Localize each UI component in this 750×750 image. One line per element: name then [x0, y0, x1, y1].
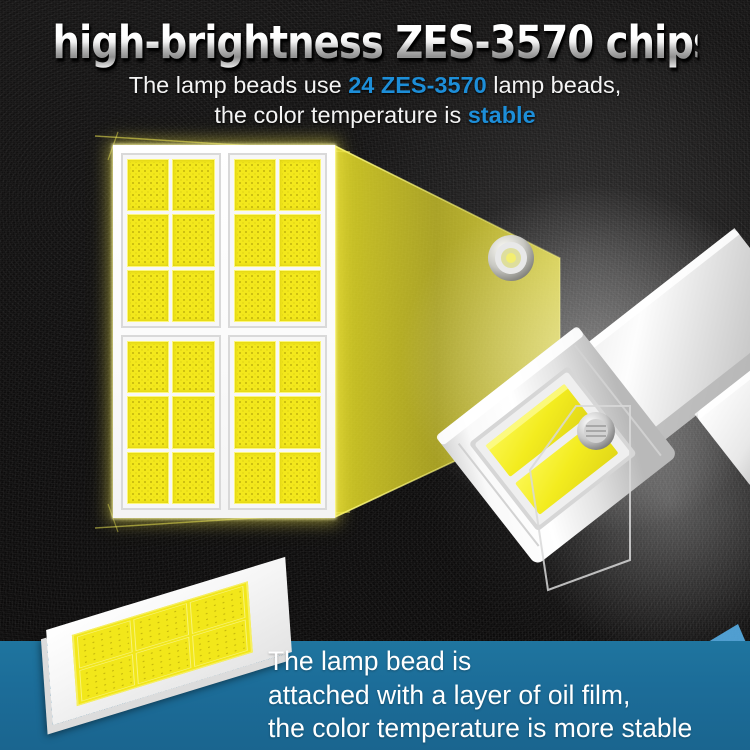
chip-quadrant — [228, 335, 328, 510]
lamp-bead-cell — [172, 270, 214, 322]
lamp-bead-cell — [279, 214, 321, 266]
subtitle-line-2-highlight: stable — [468, 102, 536, 128]
lamp-bead-cell — [172, 396, 214, 448]
subtitle-line-1-before: The lamp beads use — [129, 72, 348, 98]
lamp-bead-cell — [279, 341, 321, 393]
lamp-bead-cell — [234, 341, 276, 393]
lamp-bead-cell — [172, 159, 214, 211]
banner-caption: The lamp bead is attached with a layer o… — [268, 645, 750, 746]
lamp-bead-cell — [279, 452, 321, 504]
lamp-bead-cell — [127, 396, 169, 448]
lamp-bead-cell — [234, 159, 276, 211]
lamp-bead-cell — [279, 159, 321, 211]
banner-caption-line-2: attached with a layer of oil film, — [268, 679, 750, 713]
lamp-bead-cell — [234, 270, 276, 322]
subtitle-line-1: The lamp beads use 24 ZES-3570 lamp bead… — [0, 71, 750, 99]
lamp-bead-cell — [279, 270, 321, 322]
lamp-bead-cell — [127, 270, 169, 322]
banner-caption-line-3: the color temperature is more stable — [268, 712, 750, 746]
chip-quadrant — [121, 153, 221, 328]
page-title: high-brightness ZES-3570 chips — [53, 18, 698, 68]
magnified-led-chip-panel — [113, 145, 335, 518]
lamp-bead-cell — [234, 214, 276, 266]
lamp-bead-cell — [172, 341, 214, 393]
chip-quadrant — [228, 153, 328, 328]
lamp-bead-cell — [234, 396, 276, 448]
subtitle-line-2-before: the color temperature is — [214, 102, 467, 128]
subtitle-line-1-highlight: 24 ZES-3570 — [348, 72, 486, 98]
chip-quadrant — [121, 335, 221, 510]
lamp-bead-cell — [127, 341, 169, 393]
lamp-bead-cell — [127, 159, 169, 211]
lamp-bead-cell — [279, 396, 321, 448]
lamp-bead-cell — [127, 452, 169, 504]
banner-caption-line-1: The lamp bead is — [268, 645, 750, 679]
lamp-bead-cell — [172, 452, 214, 504]
lamp-bead-cell — [127, 214, 169, 266]
product-feature-image: high-brightness ZES-3570 chips The lamp … — [0, 0, 750, 750]
subtitle-line-1-after: lamp beads, — [487, 72, 622, 98]
subtitle-line-2: the color temperature is stable — [0, 101, 750, 129]
lamp-bead-cell — [234, 452, 276, 504]
lamp-bead-cell — [172, 214, 214, 266]
